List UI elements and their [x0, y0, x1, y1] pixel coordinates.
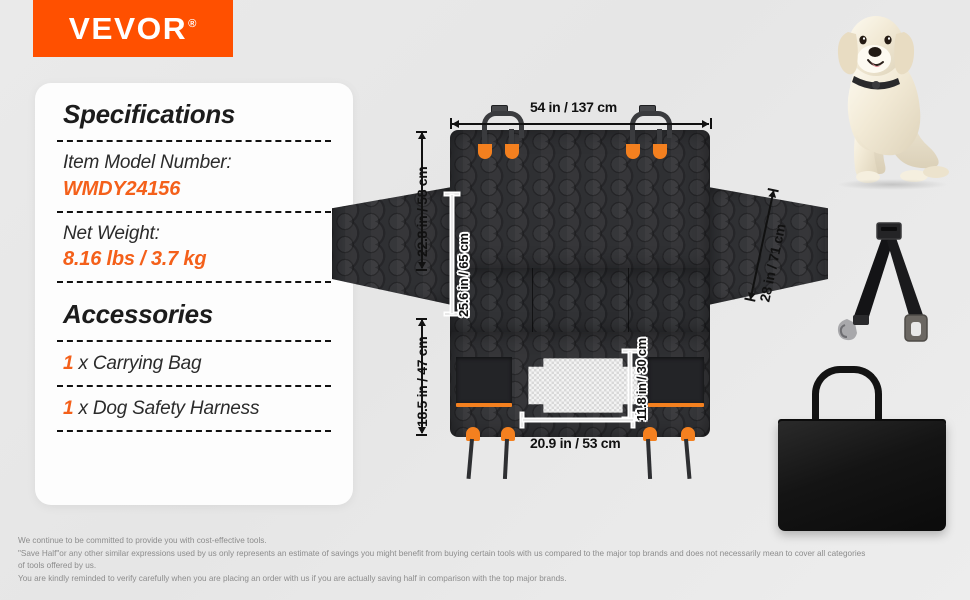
dim-arrow: [418, 262, 426, 269]
bottom-strap-tail: [684, 439, 691, 479]
left-pocket-trim: [456, 403, 512, 407]
dim-line: [523, 419, 633, 421]
bottom-strap-tail: [646, 439, 652, 479]
bag-body: [778, 421, 946, 531]
dim-arrow: [418, 132, 426, 139]
seam-line: [628, 268, 629, 334]
orange-anchor-tab: [478, 144, 492, 159]
dim-line: [629, 352, 631, 418]
dim-seat-depth: 18.5 in / 47 cm: [414, 337, 430, 427]
orange-anchor-tab: [505, 144, 519, 159]
spec-value-model: WMDY24156: [63, 176, 331, 203]
bag-photo: [768, 363, 958, 538]
dog-photo: [818, 4, 966, 194]
dim-back-height: 22.8 in / 58 cm: [414, 167, 430, 257]
accessory-label: x Dog Safety Harness: [78, 398, 259, 419]
dim-flap-depth: 25.6 in / 65 cm: [456, 233, 471, 317]
dim-cap: [710, 118, 712, 129]
dim-line: [452, 123, 709, 125]
footer-line-2: "Save Half"or any other similar expressi…: [18, 548, 953, 561]
footer-line-4: You are kindly reminded to verify carefu…: [18, 573, 953, 586]
footer-line-1: We continue to be committed to provide y…: [18, 535, 953, 548]
dim-arrow: [768, 189, 777, 198]
strap-buckle-1: [480, 103, 516, 148]
right-pocket-trim: [648, 403, 704, 407]
accessory-item-bag: 1 x Carrying Bag: [57, 342, 331, 385]
dim-arrow: [702, 120, 709, 128]
accessory-qty: 1: [63, 353, 73, 374]
dim-arrow: [418, 319, 426, 326]
page-root: VEVOR® Specifications Item Model Number:…: [0, 0, 970, 600]
right-pocket: [648, 357, 704, 403]
footer-line-3: of tools offered by us.: [18, 560, 953, 573]
vevor-logo: VEVOR®: [33, 0, 233, 57]
accessory-item-harness: 1 x Dog Safety Harness: [57, 387, 331, 430]
dim-mesh-width: 20.9 in / 53 cm: [530, 435, 620, 451]
orange-anchor-tab: [626, 144, 640, 159]
dim-line: [451, 195, 453, 313]
bottom-strap-tail: [467, 439, 474, 479]
dim-arrow: [452, 120, 459, 128]
product-diagram: 54 in / 137 cm 22.8 in / 58 cm 25.6 in /…: [370, 105, 810, 455]
dim-arrow: [418, 427, 426, 434]
accessories-title: Accessories: [57, 283, 331, 340]
brand-name: VEVOR®: [68, 11, 197, 47]
footer-disclaimer: We continue to be committed to provide y…: [18, 535, 953, 586]
seam-line: [532, 268, 533, 334]
specifications-panel: Specifications Item Model Number: WMDY24…: [35, 83, 353, 505]
accessory-label: x Carrying Bag: [78, 353, 201, 374]
dog-shadow: [836, 179, 948, 190]
divider: [57, 430, 331, 432]
spec-value-weight: 8.16 lbs / 3.7 kg: [63, 246, 331, 273]
dim-pocket-height: 11.8 in / 30 cm: [634, 338, 649, 421]
orange-anchor-tab: [653, 144, 667, 159]
dim-width-top: 54 in / 137 cm: [530, 99, 617, 115]
mesh-viewing-window: [528, 358, 638, 413]
harness-illustration: [833, 215, 948, 345]
strap-buckle-2: [628, 103, 664, 148]
harness-photo: [833, 215, 948, 345]
seat-middle-band: [450, 268, 710, 334]
left-pocket: [456, 357, 512, 403]
dim-arrow: [746, 292, 755, 301]
dim-cap: [416, 434, 427, 436]
dog-illustration: [818, 4, 966, 194]
bottom-strap-tail: [503, 439, 509, 479]
dim-cap: [416, 269, 427, 271]
spec-row-model: Item Model Number: WMDY24156: [57, 142, 331, 211]
specifications-title: Specifications: [57, 83, 331, 140]
spec-row-weight: Net Weight: 8.16 lbs / 3.7 kg: [57, 213, 331, 282]
spec-label-model: Item Model Number:: [63, 151, 331, 176]
registered-mark: ®: [188, 18, 198, 30]
accessory-qty: 1: [63, 398, 73, 419]
spec-label-weight: Net Weight:: [63, 222, 331, 247]
